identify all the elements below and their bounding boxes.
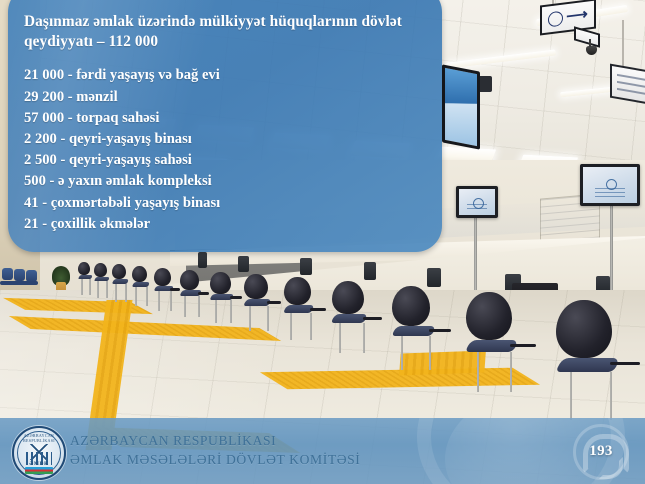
emblem-top-text: AZƏRBAYCAN RESPUBLİKASI [14,433,64,443]
statistic-item: 41 - çoxmərtəbəli yaşayış binası [24,193,426,214]
counter-chair [210,272,237,322]
statistic-item: 21 - çoxillik əkmələr [24,214,426,235]
waiting-chair [14,269,25,281]
call-center-badge[interactable]: 193 [573,424,629,480]
counter-equipment [238,256,249,272]
counter-chair [392,286,440,364]
counter-chair [154,268,176,311]
footer-bar: AZƏRBAYCAN RESPUBLİKASI ƏMDK AZƏRBAYCAN … [0,418,645,484]
call-center-number: 193 [573,443,629,460]
counter-equipment [427,268,441,287]
organisation-line-1: AZƏRBAYCAN RESPUBLİKASI [70,431,360,450]
counter-chair [132,266,152,306]
counter-chair [112,264,130,302]
counter-equipment [300,258,312,275]
statistic-item: 57 000 - torpaq sahəsi [24,108,426,129]
counter-chair [284,277,318,337]
counter-info-screen [580,164,640,206]
statistic-item: 500 - ə yaxın əmlak kompleksi [24,171,426,192]
arrow-right-icon: ⟶ [566,7,588,25]
organisation-name: AZƏRBAYCAN RESPUBLİKASI ƏMLAK MƏSƏLƏLƏRİ… [70,431,360,470]
panel-title: Daşınmaz əmlak üzərində mülkiyyət hüquql… [24,12,426,52]
counter-chair [556,300,626,410]
monitor-pole [474,214,477,298]
statistic-item: 2 200 - qeyri-yaşayış binası [24,129,426,150]
counter-chair [244,274,274,329]
state-committee-emblem: AZƏRBAYCAN RESPUBLİKASI ƏMDK [12,426,66,480]
counter-chair [332,281,372,349]
sign-circle-icon [548,10,563,27]
sign-stem [622,20,624,66]
counter-chair [78,262,94,296]
wall-mounted-tv [442,64,480,149]
waiting-chair-base [0,281,38,285]
waiting-chair [2,268,13,280]
organisation-line-2: ƏMLAK MƏSƏLƏLƏRİ DÖVLƏT KOMİTƏSİ [70,450,360,469]
counter-chair [94,263,111,299]
monitor-pole [610,198,613,296]
statistic-item: 29 200 - mənzil [24,87,426,108]
statistic-item: 2 500 - qeyri-yaşayış sahəsi [24,150,426,171]
statistics-list: 21 000 - fərdi yaşayış və bağ evi 29 200… [24,65,426,235]
counter-equipment [198,252,207,268]
counter-equipment [364,262,376,280]
statistics-panel: Daşınmaz əmlak üzərində mülkiyyət hüquql… [8,0,442,252]
counter-info-screen [456,186,498,218]
counter-chair [466,292,524,384]
azerbaijan-flag-icon [25,467,53,474]
counter-chair [180,270,204,316]
statistic-item: 21 000 - fərdi yaşayış və bağ evi [24,65,426,86]
headset-mic-icon [599,457,623,479]
slide-root: ⟶ [0,0,645,484]
